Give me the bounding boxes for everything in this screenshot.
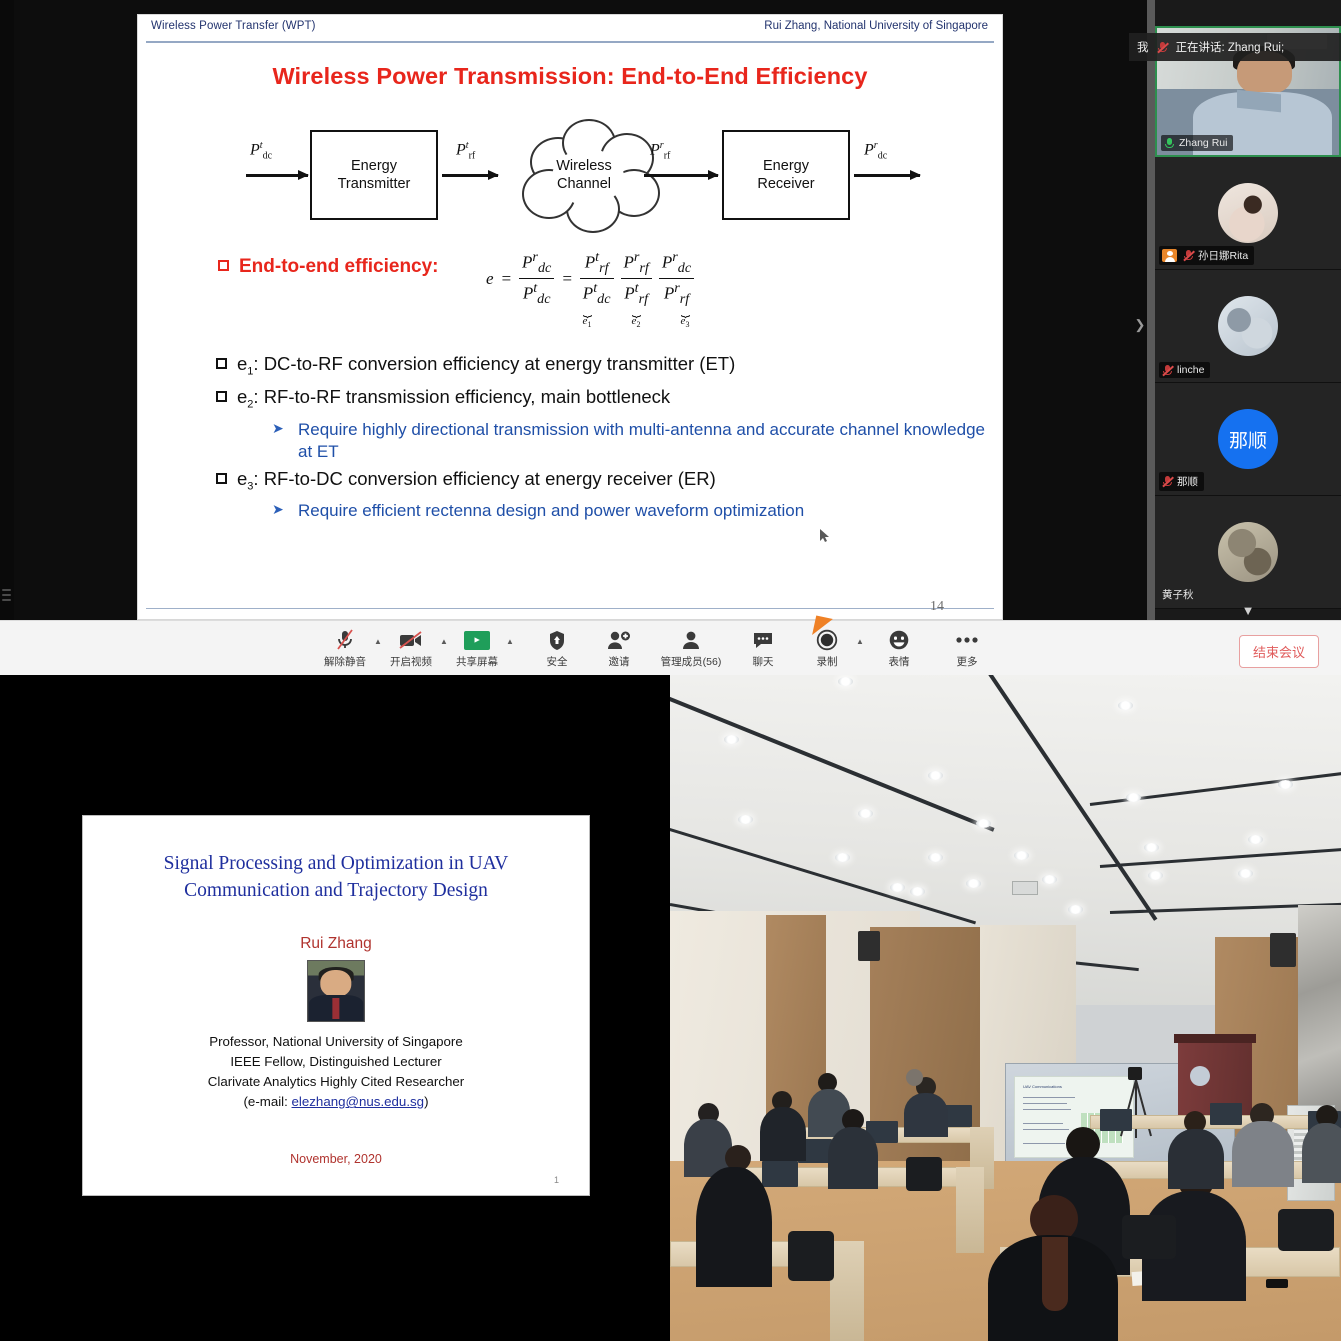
toolbar-reactions-label: 表情 [889, 654, 910, 669]
bullet-e3: e3: RF-to-DC conversion efficiency at en… [216, 467, 1002, 494]
title-slide: Signal Processing and Optimization in UA… [82, 815, 590, 1196]
efficiency-row: End-to-end efficiency: e = PrdcPtdc = Pt… [138, 250, 1002, 346]
er-line2: Receiver [757, 175, 814, 193]
title-slide-title: Signal Processing and Optimization in UA… [83, 850, 589, 905]
avatar-3: 那顺 [1218, 409, 1278, 469]
bullet-e1: e1: DC-to-RF conversion efficiency at en… [216, 352, 1002, 379]
et-line1: Energy [351, 157, 397, 175]
lecture-hall-photo: UAV Communications [670, 675, 1341, 1341]
toolbar-participants-button[interactable]: 管理成员(56) [654, 623, 728, 669]
toolbar-record-button[interactable]: 录制 [800, 623, 854, 669]
title-slide-page-number: 1 [554, 1175, 559, 1185]
toolbar-more-label: 更多 [957, 654, 978, 669]
slide-header: Wireless Power Transfer (WPT) Rui Zhang,… [138, 15, 1002, 43]
frac-4: PrdcPrrf [659, 250, 694, 307]
bullet-e3-text: : RF-to-DC conversion efficiency at ener… [253, 468, 715, 489]
square-bullet-icon [216, 358, 227, 369]
bottom-section: Signal Processing and Optimization in UA… [0, 675, 1341, 1341]
microphone-icon [1164, 138, 1175, 149]
red-square-bullet-icon [218, 260, 229, 271]
affil-line-3: Clarivate Analytics Highly Cited Researc… [208, 1074, 464, 1089]
shield-icon [548, 628, 566, 652]
slide-title: Wireless Power Transmission: End-to-End … [138, 63, 1002, 90]
title-line-1: Signal Processing and Optimization in UA… [164, 853, 509, 874]
participant-name-3: 那顺 [1177, 474, 1198, 489]
record-options-caret-icon[interactable]: ▲ [854, 637, 866, 646]
participant-tile-4[interactable]: 黄子秋 [1155, 496, 1341, 609]
frac-2: PtrfPtdc [580, 250, 614, 307]
title-slide-date: November, 2020 [83, 1152, 589, 1166]
cloud-wireless-channel: Wireless Channel [500, 117, 668, 237]
toolbar-invite-button[interactable]: 邀请 [592, 623, 646, 669]
arrow-et-to-channel [442, 174, 498, 177]
shared-screen-slide: Wireless Power Transfer (WPT) Rui Zhang,… [137, 14, 1003, 620]
header-divider [146, 41, 994, 43]
bullet-e2-text: : RF-to-RF transmission efficiency, main… [253, 386, 670, 407]
self-label: 我 [1137, 39, 1149, 55]
mouse-cursor-icon [820, 529, 829, 542]
chair [906, 1157, 942, 1191]
mute-options-caret-icon[interactable]: ▲ [372, 637, 384, 646]
active-speaker-banner: 我 正在讲话: Zhang Rui; [1129, 33, 1341, 61]
et-line2: Transmitter [338, 175, 411, 193]
left-rail [0, 0, 14, 620]
cloud-line1: Wireless [556, 158, 612, 174]
avatar-4 [1218, 522, 1278, 582]
slide-page-number: 14 [930, 599, 944, 615]
toolbar-reactions-button[interactable]: 表情 [872, 623, 926, 669]
email-prefix: (e-mail: [244, 1094, 292, 1109]
microphone-muted-icon [1162, 476, 1173, 487]
microphone-muted-icon [335, 628, 355, 652]
brace-e2: ⏟e2 [613, 306, 659, 329]
slide-footer-rule [146, 608, 994, 613]
toolbar-mute-button[interactable]: 解除静音 [318, 623, 372, 669]
avatar-1 [1218, 183, 1278, 243]
brace-e3: ⏟e3 [662, 306, 708, 329]
phone-on-desk [1266, 1279, 1288, 1288]
toolbar-video-label: 开启视频 [390, 654, 432, 669]
avatar-initials-3: 那顺 [1229, 426, 1267, 453]
er-line1: Energy [763, 157, 809, 175]
arrow-out [854, 174, 920, 177]
toolbar-chat-label: 聊天 [753, 654, 774, 669]
label-prf-t: Ptrf [456, 140, 475, 162]
toolbar-share-screen-button[interactable]: 共享屏幕 [450, 623, 504, 669]
participant-tile-3[interactable]: 那顺 那顺 [1155, 383, 1341, 496]
chair [1278, 1209, 1334, 1251]
label-pdc-r: Prdc [864, 140, 887, 162]
more-dots-icon [955, 628, 979, 652]
toolbar-security-label: 安全 [547, 654, 568, 669]
participant-tile-1[interactable]: 孙日娜Rita [1155, 157, 1341, 270]
toolbar-share-label: 共享屏幕 [456, 654, 498, 669]
speaker-box-right [1270, 933, 1296, 967]
chat-bubble-icon [752, 628, 774, 652]
bullet-e2: e2: RF-to-RF transmission efficiency, ma… [216, 385, 1002, 412]
chevron-right-icon[interactable]: ❯ [1133, 312, 1147, 338]
frac-3: PrrfPtrf [621, 250, 652, 307]
speaker-box-left [858, 931, 880, 961]
box-energy-transmitter: Energy Transmitter [310, 130, 438, 220]
efficiency-label: End-to-end efficiency: [218, 256, 439, 278]
slide-header-right: Rui Zhang, National University of Singap… [764, 20, 988, 32]
bullet-list: e1: DC-to-RF conversion efficiency at en… [138, 352, 1002, 522]
equation-braces: ⏟e1 ⏟e2 ⏟e3 [564, 306, 708, 329]
speaking-text: 正在讲话: Zhang Rui; [1176, 39, 1285, 55]
brace-e1: ⏟e1 [564, 306, 610, 329]
label-pdc-t: Ptdc [250, 140, 272, 162]
host-badge-icon [1162, 249, 1177, 262]
invite-person-icon [607, 628, 631, 652]
participant-name-2: linche [1177, 364, 1204, 376]
toolbar-record-label: 录制 [817, 654, 838, 669]
participant-strip: Zhang Rui 孙日娜Rita linche [1155, 0, 1341, 620]
end-meeting-button[interactable]: 结束会议 [1239, 635, 1319, 668]
toolbar-chat-button[interactable]: 聊天 [736, 623, 790, 669]
manage-participants-icon [680, 628, 702, 652]
meeting-toolbar: 解除静音 ▲ 开启视频 ▲ 共享屏幕 [0, 620, 1341, 675]
participant-tile-2[interactable]: linche [1155, 270, 1341, 383]
slide-header-left: Wireless Power Transfer (WPT) [151, 20, 316, 32]
projector [1012, 881, 1038, 895]
participant-name-1: 孙日娜Rita [1198, 248, 1248, 263]
toolbar-more-button[interactable]: 更多 [940, 623, 994, 669]
ponytail [1042, 1237, 1068, 1311]
microphone-muted-icon [1162, 365, 1173, 376]
participant-name-0: Zhang Rui [1179, 137, 1227, 149]
sub-bullet-e2a: Require highly directional transmission … [272, 419, 1002, 463]
chair [788, 1231, 834, 1281]
eq-equals-2: = [561, 269, 572, 289]
participant-name-badge-2: linche [1159, 362, 1210, 378]
self-microphone-muted-icon [1157, 42, 1168, 53]
square-bullet-icon [216, 473, 227, 484]
title-line-2: Communication and Trajectory Design [184, 880, 488, 901]
participant-name-badge-1: 孙日娜Rita [1159, 246, 1254, 265]
avatar-2 [1218, 296, 1278, 356]
menu-handle-icon[interactable] [0, 583, 14, 607]
bullet-e1-text: : DC-to-RF conversion efficiency at ener… [253, 353, 735, 374]
title-slide-affiliation: Professor, National University of Singap… [83, 1032, 589, 1113]
eq-equals-1: = [501, 269, 512, 289]
marble-column [1298, 905, 1341, 1115]
strip-scrollbar[interactable] [1147, 0, 1155, 620]
email-suffix: ) [424, 1094, 428, 1109]
toolbar-security-button[interactable]: 安全 [530, 623, 584, 669]
affil-line-1: Professor, National University of Singap… [209, 1034, 463, 1049]
participant-name-badge-3: 那顺 [1159, 472, 1204, 491]
chair [1122, 1215, 1176, 1259]
efficiency-text: End-to-end efficiency: [239, 256, 439, 277]
cloud-line2: Channel [557, 176, 611, 192]
title-slide-author: Rui Zhang [83, 935, 589, 953]
toolbar-invite-label: 邀请 [609, 654, 630, 669]
toolbar-mute-label: 解除静音 [324, 654, 366, 669]
author-portrait [307, 960, 365, 1022]
video-off-icon [398, 628, 424, 652]
affil-line-2: IEEE Fellow, Distinguished Lecturer [230, 1054, 441, 1069]
box-energy-receiver: Energy Receiver [722, 130, 850, 220]
reactions-smiley-icon [888, 628, 910, 652]
share-options-caret-icon[interactable]: ▲ [504, 637, 516, 646]
frac-1: PrdcPtdc [519, 250, 554, 307]
square-bullet-icon [216, 391, 227, 402]
screenshot-root: Wireless Power Transfer (WPT) Rui Zhang,… [0, 0, 1341, 1341]
cloud-label: Wireless Channel [500, 157, 668, 193]
eq-lhs: e [486, 269, 494, 289]
share-screen-icon [464, 631, 490, 650]
toolbar-video-button[interactable]: 开启视频 [384, 623, 438, 669]
participant-name-badge-0: Zhang Rui [1161, 135, 1233, 151]
efficiency-equation: e = PrdcPtdc = PtrfPtdc PrrfPtrf [486, 250, 708, 329]
block-diagram: Ptdc Energy Transmitter Ptrf [138, 112, 1002, 242]
sub-bullet-e3a: Require efficient rectenna design and po… [272, 500, 1002, 522]
toolbar-participants-label: 管理成员(56) [661, 654, 722, 669]
video-options-caret-icon[interactable]: ▲ [438, 637, 450, 646]
microphone-muted-icon [1183, 250, 1194, 261]
scroll-down-icon[interactable]: ▼ [1155, 600, 1341, 620]
zoom-meeting-window: Wireless Power Transfer (WPT) Rui Zhang,… [0, 0, 1341, 675]
email-link[interactable]: elezhang@nus.edu.sg [292, 1094, 425, 1109]
arrow-in [246, 174, 308, 177]
